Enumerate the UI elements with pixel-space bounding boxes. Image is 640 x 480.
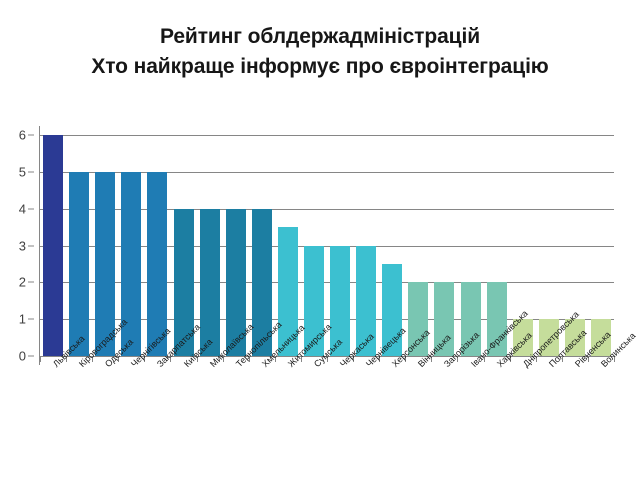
bar[interactable]: [200, 209, 220, 356]
x-axis-labels: ЛьвівськаКіровоградськаОдеськаЧернігівсь…: [0, 362, 640, 480]
y-tick-mark: [28, 245, 34, 246]
y-tick-label: 6: [19, 128, 26, 143]
y-tick-label: 5: [19, 164, 26, 179]
y-axis: 0123456: [0, 135, 34, 356]
y-tick-label: 3: [19, 238, 26, 253]
y-tick-mark: [28, 282, 34, 283]
y-tick-mark: [28, 319, 34, 320]
y-tick-label: 4: [19, 201, 26, 216]
page-title: Рейтинг облдержадміністрацій Хто найкращ…: [0, 22, 640, 82]
bar[interactable]: [43, 135, 63, 356]
y-tick-mark: [28, 208, 34, 209]
y-tick-mark: [28, 171, 34, 172]
y-tick-mark: [28, 135, 34, 136]
y-tick-label: 2: [19, 275, 26, 290]
y-tick-label: 1: [19, 312, 26, 327]
title-line-2: Хто найкраще інформує про євроінтеграцію: [0, 52, 640, 82]
bar[interactable]: [69, 172, 89, 356]
title-line-1: Рейтинг облдержадміністрацій: [0, 22, 640, 52]
y-tick-mark: [28, 356, 34, 357]
